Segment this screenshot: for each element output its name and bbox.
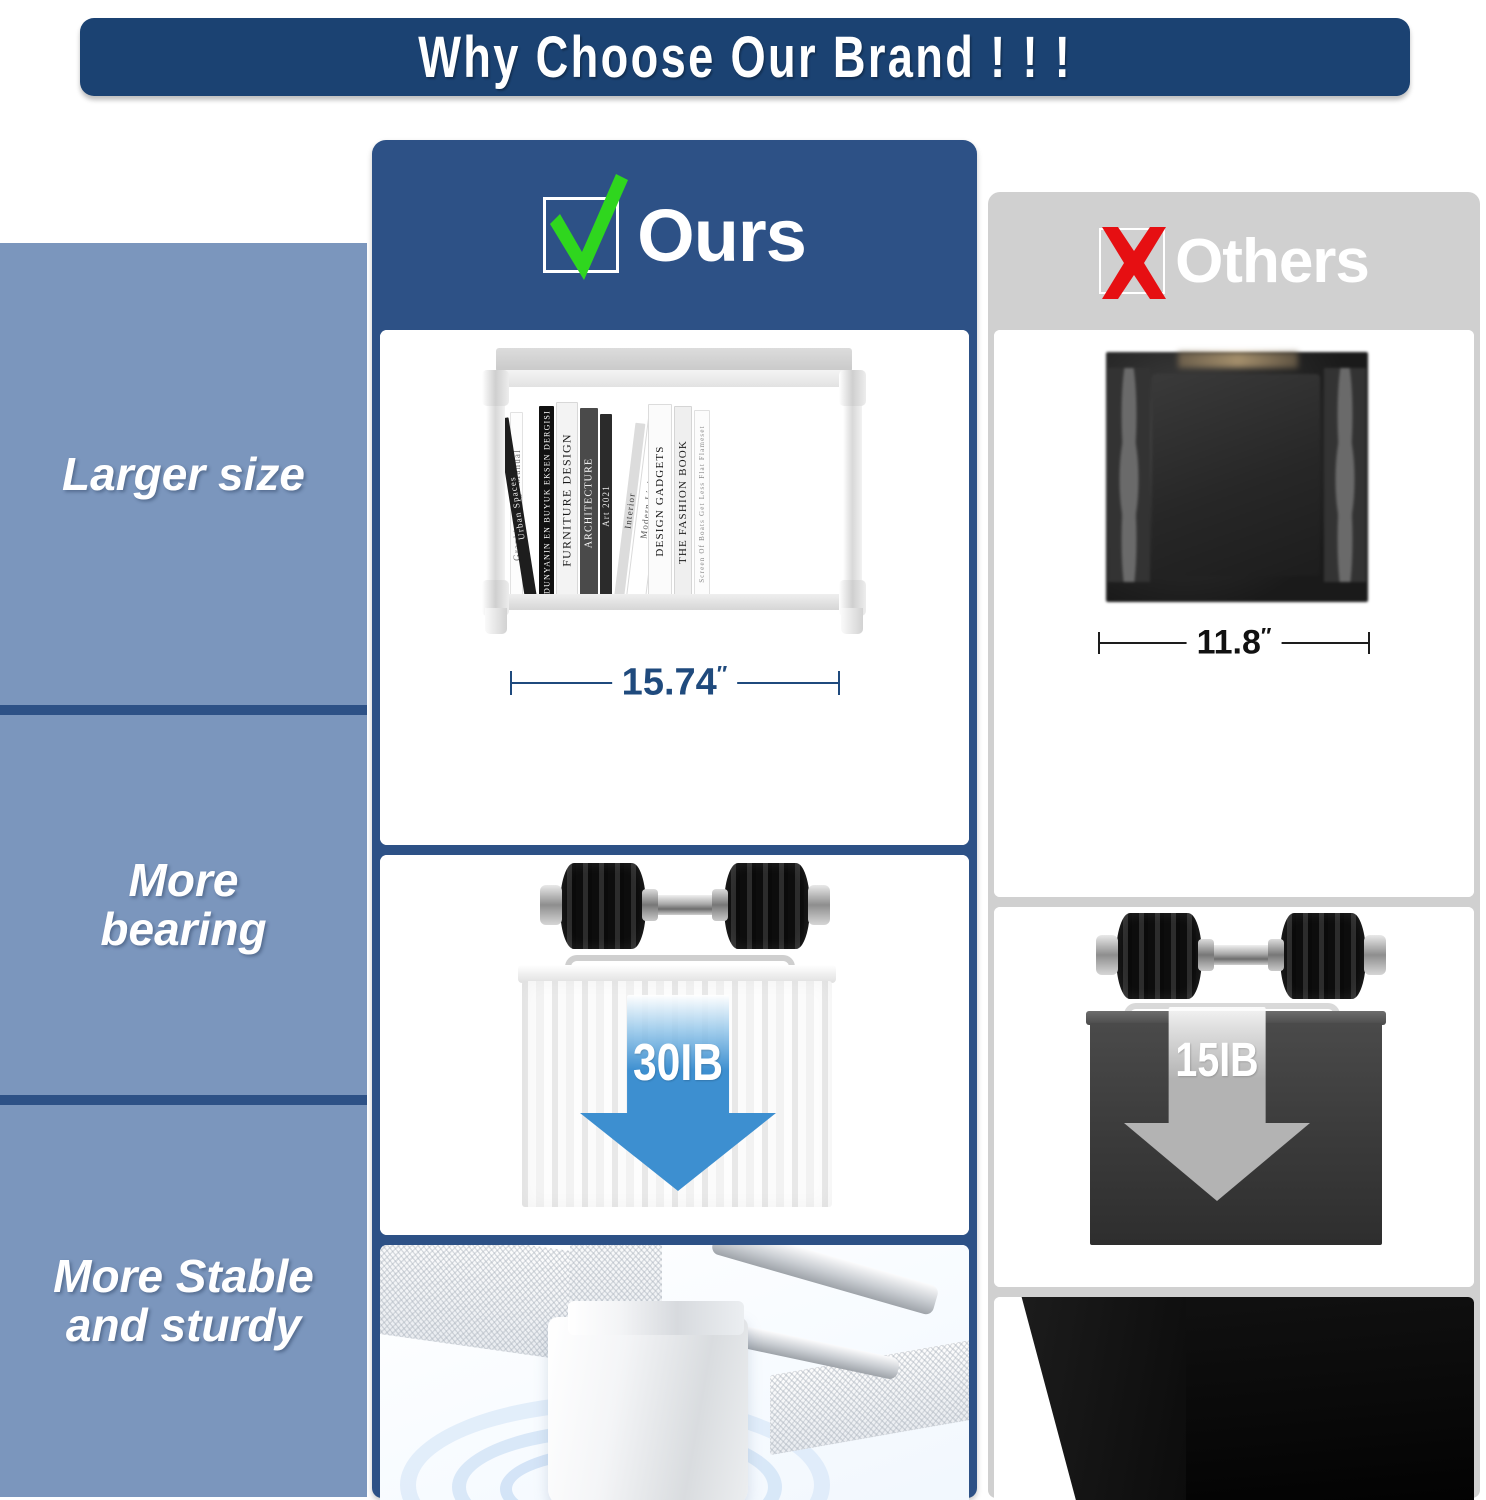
- others-dimension-value: 11.8″: [1187, 624, 1282, 663]
- dumbbell-plates-right: [724, 863, 810, 949]
- dumbbell-collar-left: [1096, 935, 1118, 975]
- dimension-rail: 11.8″: [1098, 642, 1370, 644]
- metal-rail: [710, 1245, 939, 1316]
- ours-cell-more-bearing: 30IB: [380, 855, 969, 1235]
- ours-column-header: Ours: [372, 140, 977, 330]
- shelf-foot: [485, 608, 507, 634]
- book-spine: Screen Of Boats Get Less Flat Flameset: [694, 410, 710, 598]
- shelf-top-edge: [484, 370, 864, 387]
- check-in-box-icon: [543, 197, 619, 273]
- joint-collar: [568, 1301, 744, 1335]
- arrow-head: [580, 1113, 776, 1191]
- ours-label: Ours: [637, 193, 806, 278]
- cross-in-box-icon: [1099, 228, 1165, 294]
- black-shelf-photo: [1106, 352, 1368, 602]
- others-dimension-line: 11.8″: [994, 642, 1474, 644]
- others-column-header: Others: [988, 192, 1480, 330]
- row-label-text: More Stable and sturdy: [0, 1252, 367, 1350]
- dumbbell-plates-right: [1280, 913, 1366, 999]
- dumbbell-plates-left: [1116, 913, 1202, 999]
- ours-joint-image: [380, 1245, 969, 1500]
- shelf-unit: Graphic Design Manual Urban Spaces DUNYA…: [474, 348, 874, 638]
- arrow-head: [1124, 1123, 1310, 1201]
- black-shelf-side: [1020, 1297, 1186, 1500]
- load-arrow-others: 15IB: [1124, 1007, 1310, 1213]
- row-label-line-1: More Stable: [4, 1252, 363, 1301]
- others-cell-more-bearing: 15IB: [994, 907, 1474, 1287]
- dumbbell-collar-right: [1364, 935, 1386, 975]
- check-icon: [538, 168, 634, 284]
- load-arrow-ours: 30IB: [580, 995, 776, 1195]
- others-size-image: 11.8″: [994, 330, 1474, 897]
- dumbbell-icon: [530, 861, 840, 951]
- cross-icon: [1092, 221, 1176, 305]
- ours-dimension-line: 15.74″: [380, 682, 969, 684]
- dumbbell-collar-left: [540, 885, 562, 925]
- others-weight-label: 15IB: [1175, 1033, 1258, 1088]
- shelf-post-right: [843, 378, 862, 610]
- ours-column: Ours Graphic Design Manual Urban Spaces …: [372, 140, 977, 1498]
- dumbbell-nut-right: [1268, 939, 1284, 971]
- book-spine: FURNITURE DESIGN: [556, 402, 578, 598]
- black-shelf-body: [1180, 1297, 1474, 1500]
- shelf-top-panel: [496, 348, 852, 372]
- row-label-more-stable: More Stable and sturdy: [0, 1105, 367, 1497]
- infographic-root: Why Choose Our Brand ! ! ! Larger size M…: [0, 0, 1486, 1500]
- ours-weight-label: 30IB: [633, 1033, 723, 1093]
- shelf-side-rail: [1324, 368, 1366, 582]
- book-row: Graphic Design Manual Urban Spaces DUNYA…: [510, 400, 838, 598]
- book-spine: ARCHITECTURE: [580, 408, 598, 598]
- row-label-text: Larger size: [0, 450, 367, 499]
- dumbbell-plates-left: [560, 863, 646, 949]
- row-label-larger-size: Larger size: [0, 243, 367, 705]
- shelf-connector: [839, 370, 866, 406]
- header-banner: Why Choose Our Brand ! ! !: [80, 18, 1410, 96]
- others-cell-more-stable: [994, 1297, 1474, 1500]
- book-spine: Art 2021: [600, 414, 612, 598]
- ours-cell-more-stable: [380, 1245, 969, 1500]
- dumbbell-nut-right: [712, 889, 728, 921]
- others-bearing-image: 15IB: [994, 907, 1474, 1287]
- white-shelf-image: Graphic Design Manual Urban Spaces DUNYA…: [380, 330, 969, 845]
- dimension-rail: 15.74″: [510, 682, 840, 684]
- row-label-more-bearing: More bearing: [0, 715, 367, 1095]
- metal-joint-connector: [548, 1317, 748, 1500]
- ours-cell-larger-size: Graphic Design Manual Urban Spaces DUNYA…: [380, 330, 969, 845]
- dumbbell-nut-left: [1198, 939, 1214, 971]
- shelf-connector: [482, 370, 509, 406]
- shelf-foot: [841, 608, 863, 634]
- photo-glint: [1178, 352, 1298, 368]
- row-label-line-2: and sturdy: [4, 1301, 363, 1350]
- others-cell-larger-size: 11.8″: [994, 330, 1474, 897]
- dumbbell-collar-right: [808, 885, 830, 925]
- book-spine: DESIGN GADGETS: [648, 404, 672, 598]
- ours-bearing-image: 30IB: [380, 855, 969, 1235]
- row-divider-2: [0, 1095, 367, 1105]
- row-label-line-1: More: [4, 856, 363, 905]
- ours-dimension-value: 15.74″: [612, 662, 738, 705]
- shelf-post-left: [486, 378, 505, 610]
- page-title: Why Choose Our Brand ! ! !: [418, 24, 1072, 91]
- others-corner-image: [994, 1297, 1474, 1500]
- others-column: Others 11.8″: [988, 192, 1480, 1498]
- shelf-bottom-panel: [484, 594, 864, 610]
- book-spine: THE FASHION BOOK: [674, 406, 692, 598]
- row-label-text: More bearing: [0, 856, 367, 954]
- book-spine: DUNYANIN EN BUYUK EKSEN DERGISI: [539, 406, 554, 598]
- row-divider-1: [0, 705, 367, 715]
- shelf-inner-panel: [1152, 374, 1320, 576]
- dumbbell-icon: [1086, 911, 1396, 1001]
- row-label-line-2: bearing: [4, 905, 363, 954]
- others-label: Others: [1175, 226, 1369, 297]
- dumbbell-nut-left: [642, 889, 658, 921]
- shelf-side-rail: [1108, 368, 1150, 582]
